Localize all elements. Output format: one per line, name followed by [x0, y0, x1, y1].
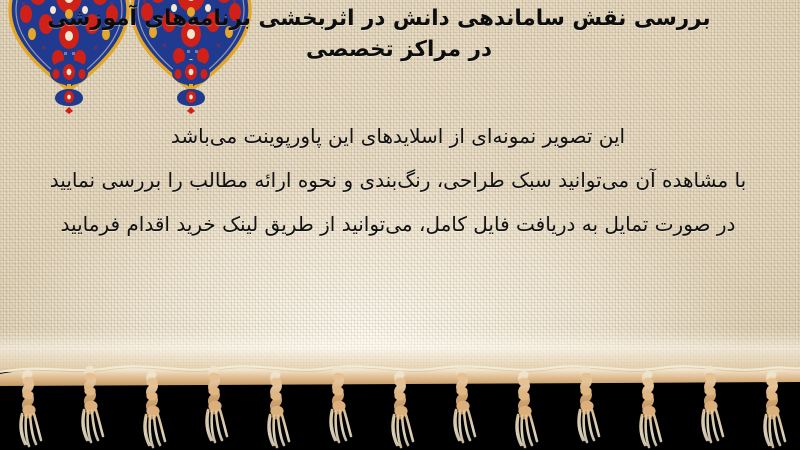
slide-title-line-1: بررسی نقش ساماندهی دانش در اثربخشی برنام…: [14, 4, 784, 35]
persian-pendant-icon: [168, 58, 214, 114]
slide-title: بررسی نقش ساماندهی دانش در اثربخشی برنام…: [0, 4, 800, 65]
slide-body-text: این تصویر نمونه‌ای از اسلایدهای این پاور…: [12, 114, 784, 246]
carpet-fringe-icon: [0, 356, 800, 450]
body-line-3: در صورت تمایل به دریافت فایل کامل، می‌تو…: [12, 202, 784, 246]
slide-canvas: بررسی نقش ساماندهی دانش در اثربخشی برنام…: [0, 0, 800, 450]
body-line-2: با مشاهده آن می‌توانید سبک طراحی، رنگ‌بن…: [12, 158, 784, 202]
body-line-1: این تصویر نمونه‌ای از اسلایدهای این پاور…: [12, 114, 784, 158]
persian-pendant-icon: [46, 58, 92, 114]
slide-title-line-2: در مراکز تخصصی: [14, 35, 784, 66]
